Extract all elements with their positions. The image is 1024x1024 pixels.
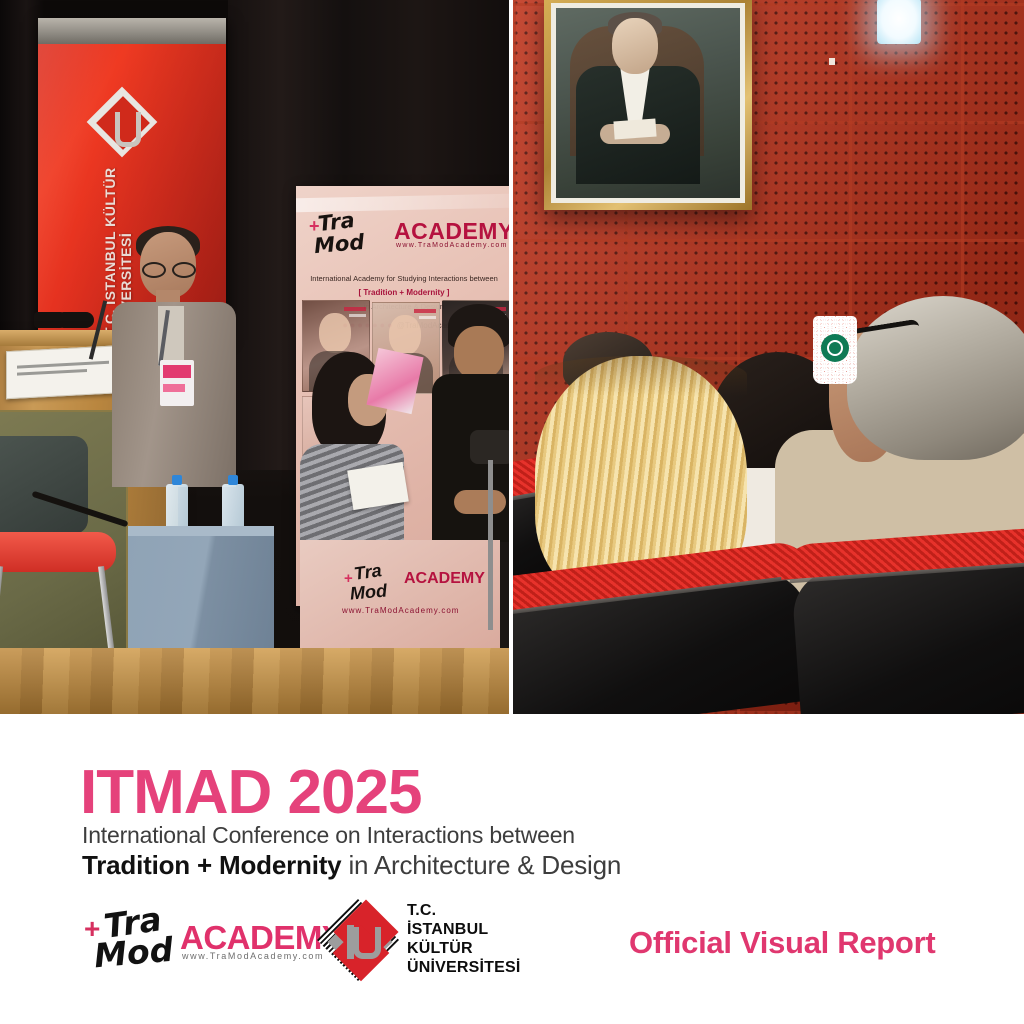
- iku-logo-icon: [90, 90, 156, 156]
- iku-line-1: T.C.: [407, 901, 521, 920]
- red-stage-chair: [0, 436, 124, 676]
- iku-line-3: KÜLTÜR: [407, 939, 521, 958]
- logo-mod: Mod: [349, 580, 388, 604]
- iku-logo-text: T.C. İSTANBUL KÜLTÜR ÜNİVERSİTESİ: [407, 901, 521, 977]
- keynote-speaker: [118, 232, 230, 482]
- logo-academy: ACADEMY: [394, 218, 509, 245]
- iku-diamond-icon: [321, 903, 399, 981]
- tramod-academy-logo[interactable]: + Tra Mod ACADEMY www.TraModAcademy.com: [76, 899, 316, 979]
- report-subtitle-line-1: International Conference on Interactions…: [82, 822, 575, 848]
- panelist-shoe: [60, 312, 94, 328]
- subtitle-emphasis: Tradition + Modernity: [82, 850, 341, 880]
- logo-mod: Mod: [313, 230, 365, 258]
- stage-wooden-floor: [0, 648, 509, 714]
- logo-url: www.TraModAcademy.com: [396, 242, 508, 249]
- istanbul-kultur-university-logo[interactable]: T.C. İSTANBUL KÜLTÜR ÜNİVERSİTESİ: [321, 901, 621, 983]
- portrait-canvas: [556, 8, 740, 198]
- coffee-cup-icon: [813, 316, 857, 384]
- banner-line-2: [ Tradition + Modernity ]: [296, 288, 509, 297]
- subtitle-remainder: in Architecture & Design: [341, 850, 621, 880]
- logo-website-url: www.TraModAcademy.com: [182, 951, 324, 961]
- photo-right-audience: [513, 0, 1024, 714]
- audience-head-gray-hair: [847, 296, 1024, 460]
- ataturk-portrait-frame: [544, 0, 752, 210]
- ceiling-light-icon: [877, 0, 921, 44]
- official-visual-report-label: Official Visual Report: [629, 925, 935, 961]
- report-title: ITMAD 2025: [80, 762, 421, 824]
- footer-logo-row: + Tra Mod ACADEMY www.TraModAcademy.com …: [76, 899, 956, 989]
- auditorium-seat: [779, 527, 1024, 714]
- footer-branding-bar: ITMAD 2025 International Conference on I…: [0, 714, 1024, 1024]
- logo-mod: Mod: [92, 930, 174, 976]
- wall-marker: [829, 58, 835, 65]
- report-subtitle-line-2: Tradition + Modernity in Architecture & …: [82, 850, 621, 880]
- photo-left-stage: T.C. İSTANBUL KÜLTÜR ÜNİVERSİTESİ + Tra …: [0, 0, 509, 714]
- podium-name-card: [6, 345, 128, 399]
- stage-stool: [470, 430, 509, 660]
- iku-line-2: İSTANBUL: [407, 920, 521, 939]
- photo-band: T.C. İSTANBUL KÜLTÜR ÜNİVERSİTESİ + Tra …: [0, 0, 1024, 714]
- banner-line-1: International Academy for Studying Inter…: [296, 274, 509, 283]
- iku-line-4: ÜNİVERSİTESİ: [407, 958, 521, 977]
- visual-report-page: T.C. İSTANBUL KÜLTÜR ÜNİVERSİTESİ + Tra …: [0, 0, 1024, 1024]
- logo-url: www.TraModAcademy.com: [342, 606, 459, 615]
- tramod-logo-on-banner: + Tra Mod ACADEMY www.TraModAcademy.com: [310, 208, 500, 266]
- banner-top-bar: [38, 18, 226, 44]
